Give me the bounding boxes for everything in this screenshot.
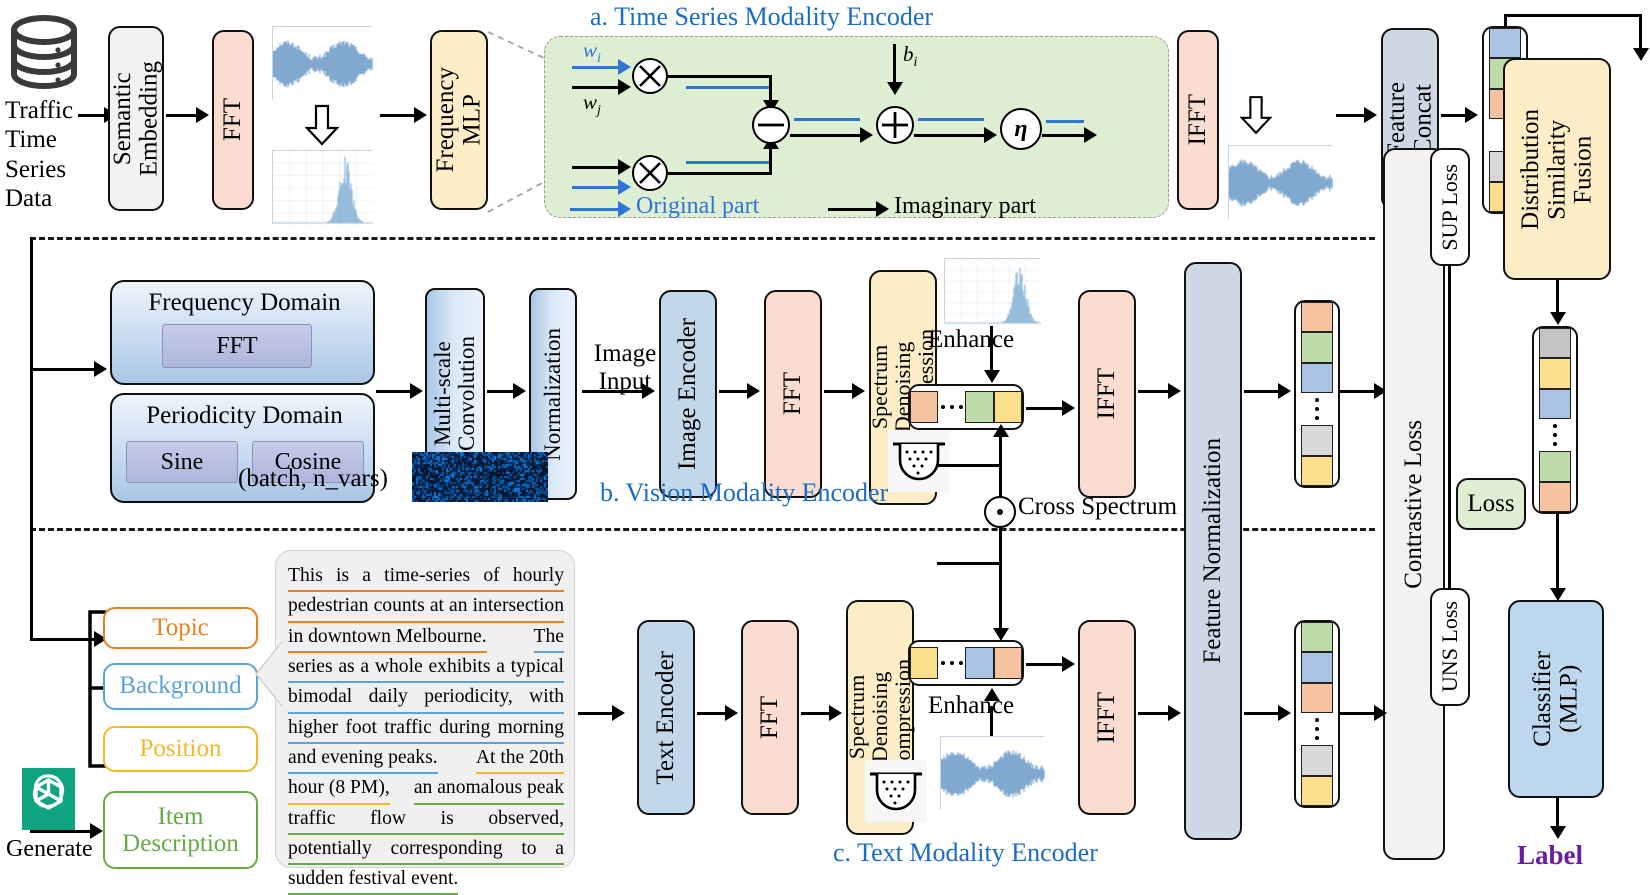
description-segment: This is a time-series of hourly	[288, 562, 564, 592]
callout-lines	[486, 30, 546, 220]
text-ifft-label: IFFT	[1094, 692, 1120, 743]
ts-ifft-label: IFFT	[1185, 94, 1211, 145]
w-j-label: wj	[583, 90, 601, 119]
text-spectrum-vector	[908, 640, 1024, 686]
description-line: sudden festival event.	[288, 865, 564, 895]
sine-label: Sine	[161, 449, 204, 476]
w-j-sub: j	[597, 103, 601, 118]
block-down-arrow-icon	[305, 104, 339, 151]
description-line: and evening peaks. At the 20th	[288, 744, 564, 774]
description-segment: bimodal daily periodicity, with	[288, 683, 564, 713]
uns-loss-label: UNS Loss	[1438, 601, 1461, 692]
vector-cell	[1301, 332, 1333, 362]
vector-cell	[1539, 358, 1571, 388]
prompt-part-background[interactable]: Background	[103, 663, 258, 710]
text-reconstructed-waveform-plot	[940, 736, 1044, 810]
feature-normalization-label: Feature Normalization	[1200, 438, 1226, 664]
description-segment: pedestrian counts at an intersection	[288, 592, 564, 622]
b-i-sub: i	[914, 55, 918, 70]
legend-original-part: Original part	[636, 193, 759, 220]
classifier-label: Classifier(MLP)	[1530, 651, 1583, 747]
description-line: hour (8 PM), an anomalous peak	[288, 774, 564, 804]
timeseries-waveform-plot	[272, 26, 372, 100]
vector-cell	[1539, 451, 1571, 481]
timeseries-spectrum-plot	[272, 150, 372, 224]
section-a-title: a. Time Series Modality Encoder	[590, 2, 933, 32]
section-divider-bottom	[30, 528, 1375, 531]
description-segment: traffic flow is observed,	[288, 805, 564, 835]
vision-fft-block[interactable]: FFT	[764, 290, 822, 498]
batch-shape-label: (batch, n_vars)	[238, 465, 388, 493]
prompt-part-background-label: Background	[119, 673, 241, 699]
description-segment: series as a whole exhibits a typical	[288, 653, 564, 683]
text-feature-vector	[1294, 620, 1340, 808]
b-i-label: bi	[903, 42, 917, 71]
source-label-l3: Series	[5, 155, 97, 184]
w-i-sub: i	[597, 51, 601, 66]
description-line: potentially corresponding to a	[288, 835, 564, 865]
vision-ifft-label: IFFT	[1094, 368, 1120, 419]
section-divider-top	[30, 237, 1375, 240]
vector-ellipsis	[938, 648, 965, 678]
description-segment: higher foot traffic during morning	[288, 714, 564, 744]
description-segment: hour (8 PM),	[288, 774, 390, 804]
sup-loss-badge[interactable]: SUP Loss	[1430, 148, 1470, 266]
vector-cell	[1301, 302, 1333, 332]
vision-feature-vector	[1294, 300, 1340, 488]
eta-label: η	[1014, 116, 1027, 143]
vector-cell	[1539, 389, 1571, 419]
vector-ellipsis	[1315, 713, 1319, 745]
prompt-part-position-label: Position	[140, 736, 222, 762]
description-line: in downtown Melbourne. The	[288, 623, 564, 653]
section-b-title: b. Vision Modality Encoder	[600, 478, 888, 508]
contrastive-loss-label: Contrastive Loss	[1401, 420, 1427, 589]
prompt-part-item-description[interactable]: ItemDescription	[103, 791, 258, 869]
description-line: higher foot traffic during morning	[288, 714, 564, 744]
vector-cell	[1301, 622, 1333, 652]
image-encoder-label: Image Encoder	[675, 318, 701, 470]
add-operator	[876, 106, 914, 144]
vector-cell	[1301, 683, 1333, 713]
database-icon	[8, 14, 80, 92]
vector-cell	[965, 647, 993, 679]
multiply-operator-bottom	[632, 155, 668, 191]
w-i-text: w	[583, 38, 597, 62]
ts-fft-label: FFT	[220, 98, 246, 141]
ts-reconstructed-waveform-plot	[1228, 145, 1332, 219]
prompt-part-topic[interactable]: Topic	[103, 607, 258, 649]
subtract-operator	[752, 106, 790, 144]
fft-sub-label: FFT	[216, 333, 257, 360]
uns-loss-badge[interactable]: UNS Loss	[1430, 588, 1470, 706]
sine-box[interactable]: Sine	[126, 441, 238, 483]
eta-activation: η	[1000, 108, 1042, 150]
vector-cell	[1301, 776, 1333, 806]
feature-normalization-block[interactable]: Feature Normalization	[1184, 262, 1242, 840]
vector-cell	[994, 391, 1022, 423]
periodicity-domain-label: Periodicity Domain	[112, 402, 377, 430]
text-spectrum-denoising-label: SpectrumDenoisingCompression	[845, 659, 914, 775]
image-encoder-block[interactable]: Image Encoder	[659, 290, 717, 498]
vision-ifft-block[interactable]: IFFT	[1078, 290, 1136, 498]
vector-ellipsis	[1553, 419, 1557, 451]
loss-label: Loss	[1467, 491, 1514, 517]
cross-spectrum-operator	[984, 496, 1016, 528]
source-label-l2: Time	[5, 125, 97, 154]
frequency-domain-label: Frequency Domain	[112, 289, 377, 317]
multiscale-convolution-label: Multi-scaleConvolution	[431, 336, 479, 451]
semantic-embedding-label: SemanticEmbedding	[110, 61, 163, 176]
label-output: Label	[1517, 840, 1583, 871]
multiply-operator-top	[632, 58, 668, 94]
fusion-feature-vector	[1532, 326, 1578, 514]
vector-cell	[1539, 328, 1571, 358]
vector-cell	[1301, 652, 1333, 682]
vision-spectrum-plot	[944, 258, 1040, 324]
description-segment: in downtown Melbourne.	[288, 623, 487, 653]
classifier-block[interactable]: Classifier(MLP)	[1508, 600, 1604, 798]
vector-cell	[1301, 425, 1333, 455]
frequency-mlp-label: FrequencyMLP	[433, 67, 486, 173]
fft-sub-box[interactable]: FFT	[162, 324, 312, 368]
vector-ellipsis	[1315, 393, 1319, 425]
description-segment: an anomalous peak	[414, 774, 564, 804]
text-encoder-block[interactable]: Text Encoder	[637, 620, 695, 815]
feature-concat-label: FeatureConcat	[1384, 82, 1437, 157]
sup-loss-label: SUP Loss	[1438, 164, 1461, 251]
frequency-domain-box[interactable]: Frequency Domain FFT	[110, 280, 375, 385]
prompt-part-item-description-label: ItemDescription	[122, 803, 239, 858]
text-filter-funnel-icon	[865, 760, 927, 822]
vision-fft-label: FFT	[780, 372, 806, 415]
w-i-label: wi	[583, 38, 601, 67]
ts-ifft-block[interactable]: IFFT	[1177, 30, 1219, 210]
w-j-text: w	[583, 90, 597, 114]
b-i-text: b	[903, 42, 914, 66]
vector-cell	[994, 647, 1022, 679]
vector-cell	[1301, 456, 1333, 486]
vector-cell	[910, 391, 938, 423]
text-ifft-block[interactable]: IFFT	[1078, 620, 1136, 815]
generate-label: Generate	[6, 836, 93, 863]
source-label-l1: Traffic	[5, 96, 97, 125]
vector-cell	[910, 647, 938, 679]
text-fft-label: FFT	[757, 696, 783, 739]
feature-heatmap-strip	[412, 452, 548, 502]
image-input-l1: Image	[585, 340, 665, 368]
vision-enhance-label: Enhance	[928, 326, 1014, 354]
ts-fft-block[interactable]: FFT	[212, 30, 254, 210]
description-line: pedestrian counts at an intersection	[288, 592, 564, 622]
normalization-label: Normalization	[541, 328, 565, 461]
legend-imaginary-part: Imaginary part	[894, 193, 1036, 220]
prompt-part-position[interactable]: Position	[103, 726, 258, 772]
description-line: series as a whole exhibits a typical	[288, 653, 564, 683]
description-segment: The	[534, 623, 564, 653]
semantic-embedding-block[interactable]: SemanticEmbedding	[108, 26, 164, 211]
vector-cell	[965, 391, 993, 423]
source-label-l4: Data	[5, 184, 97, 213]
vector-cell	[1301, 745, 1333, 775]
frequency-mlp-block[interactable]: FrequencyMLP	[430, 30, 488, 210]
description-line: traffic flow is observed,	[288, 805, 564, 835]
description-segment: sudden festival event.	[288, 865, 458, 895]
section-c-title: c. Text Modality Encoder	[833, 838, 1098, 868]
description-segment: At the 20th	[476, 744, 564, 774]
text-description-content: This is a time-series of hourlypedestria…	[288, 562, 564, 895]
description-segment: potentially corresponding to a	[288, 835, 564, 865]
text-encoder-label: Text Encoder	[653, 651, 679, 785]
text-enhance-label: Enhance	[928, 692, 1014, 720]
vector-cell	[1489, 28, 1521, 58]
openai-logo-icon	[22, 768, 75, 830]
distribution-similarity-fusion-block[interactable]: DistributionSimilarityFusion	[1503, 58, 1611, 280]
description-line: This is a time-series of hourly	[288, 562, 564, 592]
loss-block[interactable]: Loss	[1456, 478, 1526, 530]
distribution-similarity-fusion-label: DistributionSimilarityFusion	[1518, 109, 1597, 230]
vector-ellipsis	[938, 392, 965, 422]
description-line: bimodal daily periodicity, with	[288, 683, 564, 713]
text-fft-block[interactable]: FFT	[741, 620, 799, 815]
vision-filter-funnel-icon	[888, 430, 950, 492]
prompt-part-topic-label: Topic	[152, 615, 209, 641]
speech-bubble-tail	[252, 640, 282, 710]
vector-cell	[1301, 363, 1333, 393]
description-segment: and evening peaks.	[288, 744, 438, 774]
vector-cell	[1539, 482, 1571, 512]
block-down-arrow-icon-2	[1240, 95, 1272, 140]
